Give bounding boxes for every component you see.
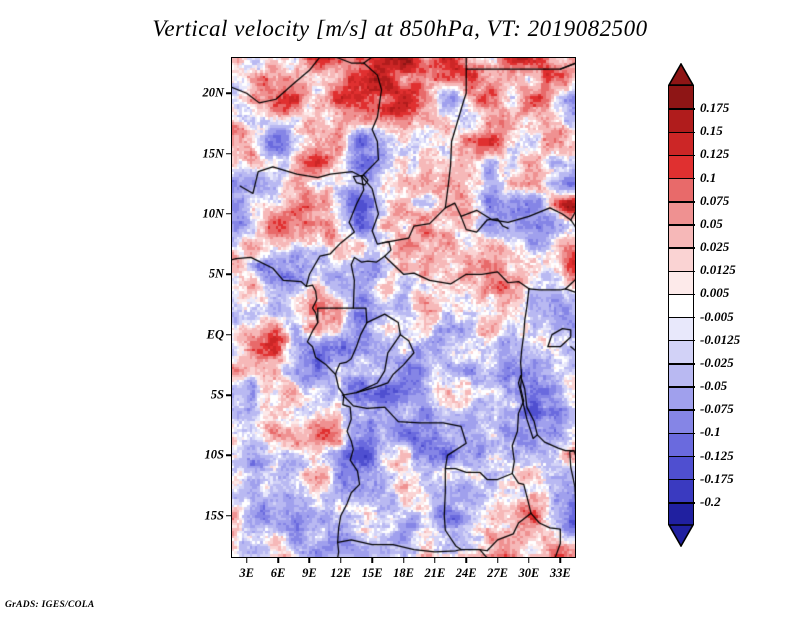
x-tick-mark [371, 558, 373, 563]
colorbar-segment [669, 179, 693, 202]
colorbar-segment [669, 109, 693, 132]
colorbar-label: -0.175 [700, 471, 734, 487]
colorbar-label: 0.175 [700, 100, 729, 116]
y-tick-label-20N: 20N [202, 86, 224, 101]
x-tick-mark [528, 558, 530, 563]
x-tick-label-15E: 15E [362, 566, 383, 581]
y-tick-label-15S: 15S [205, 508, 224, 523]
y-tick-mark [226, 153, 231, 155]
x-tick-mark [246, 558, 248, 563]
x-tick-mark [403, 558, 405, 563]
y-tick-mark [226, 213, 231, 215]
colorbar-segment [669, 318, 693, 341]
colorbar-segment [669, 387, 693, 410]
x-tick-mark [277, 558, 279, 563]
x-tick-label-24E: 24E [456, 566, 477, 581]
colorbar-label: -0.125 [700, 448, 734, 464]
colorbar-label: -0.075 [700, 401, 734, 417]
map-plot-area: 20N15N10N5NEQ5S10S15S 3E6E9E12E15E18E21E… [231, 57, 576, 558]
colorbar-label: 0.025 [700, 239, 729, 255]
colorbar-label: -0.005 [700, 309, 734, 325]
x-tick-mark [309, 558, 311, 563]
x-tick-mark [497, 558, 499, 563]
y-tick-label-15N: 15N [202, 146, 224, 161]
y-tick-label-10N: 10N [202, 206, 224, 221]
page-title: Vertical velocity [m/s] at 850hPa, VT: 2… [0, 16, 800, 42]
x-tick-label-30E: 30E [519, 566, 540, 581]
x-tick-label-12E: 12E [330, 566, 351, 581]
colorbar-top-arrow-icon [668, 63, 694, 86]
colorbar-bottom-arrow-icon [668, 524, 694, 547]
x-tick-label-21E: 21E [424, 566, 445, 581]
colorbar-segment [669, 433, 693, 456]
x-tick-label-3E: 3E [239, 566, 254, 581]
colorbar-segment [669, 225, 693, 248]
colorbar-label: 0.1 [700, 170, 716, 186]
x-tick-mark [560, 558, 562, 563]
y-tick-mark [226, 394, 231, 396]
colorbar-segment [669, 86, 693, 109]
colorbar-label: -0.025 [700, 355, 734, 371]
colorbar: 0.1750.150.1250.10.0750.050.0250.01250.0… [668, 63, 694, 547]
colorbar-label: 0.125 [700, 146, 729, 162]
grads-attribution: GrADS: IGES/COLA [5, 600, 95, 610]
y-tick-label-10S: 10S [205, 448, 224, 463]
colorbar-divider [669, 271, 695, 273]
colorbar-divider [669, 456, 695, 458]
colorbar-label: 0.15 [700, 123, 723, 139]
colorbar-segment [669, 364, 693, 387]
colorbar-divider [669, 386, 695, 388]
x-tick-mark [434, 558, 436, 563]
colorbar-segment [669, 294, 693, 317]
colorbar-label: 0.075 [700, 193, 729, 209]
colorbar-segment [669, 341, 693, 364]
colorbar-segment [669, 480, 693, 503]
x-tick-label-9E: 9E [302, 566, 317, 581]
colorbar-label: 0.05 [700, 216, 723, 232]
colorbar-segment [669, 271, 693, 294]
vertical-velocity-heatmap [231, 57, 576, 558]
y-tick-mark [226, 515, 231, 517]
y-tick-label-EQ: EQ [207, 327, 224, 342]
colorbar-divider [669, 155, 695, 157]
colorbar-label: 0.005 [700, 285, 729, 301]
colorbar-divider [669, 201, 695, 203]
colorbar-segment [669, 202, 693, 225]
colorbar-divider [669, 502, 695, 504]
x-tick-label-18E: 18E [393, 566, 414, 581]
colorbar-divider [669, 409, 695, 411]
colorbar-divider [669, 108, 695, 110]
y-tick-mark [226, 334, 231, 336]
colorbar-label: 0.0125 [700, 262, 736, 278]
x-tick-mark [465, 558, 467, 563]
colorbar-segment [669, 410, 693, 433]
x-tick-label-6E: 6E [271, 566, 286, 581]
colorbar-divider [669, 340, 695, 342]
colorbar-segment [669, 155, 693, 178]
colorbar-segment [669, 457, 693, 480]
colorbar-label: -0.0125 [700, 332, 740, 348]
colorbar-segment [669, 503, 693, 526]
colorbar-divider [669, 479, 695, 481]
colorbar-divider [669, 363, 695, 365]
colorbar-segment [669, 132, 693, 155]
colorbar-divider [669, 178, 695, 180]
x-tick-label-27E: 27E [487, 566, 508, 581]
colorbar-label: -0.05 [700, 378, 727, 394]
colorbar-divider [669, 294, 695, 296]
colorbar-segment [669, 248, 693, 271]
colorbar-body [668, 85, 694, 525]
x-tick-mark [340, 558, 342, 563]
y-tick-mark [226, 274, 231, 276]
y-tick-label-5S: 5S [211, 388, 224, 403]
colorbar-label: -0.2 [700, 494, 721, 510]
colorbar-divider [669, 224, 695, 226]
colorbar-divider [669, 132, 695, 134]
x-tick-label-33E: 33E [550, 566, 571, 581]
colorbar-divider [669, 317, 695, 319]
y-tick-mark [226, 455, 231, 457]
y-tick-label-5N: 5N [209, 267, 224, 282]
colorbar-divider [669, 433, 695, 435]
colorbar-divider [669, 247, 695, 249]
colorbar-label: -0.1 [700, 424, 721, 440]
y-tick-mark [226, 92, 231, 94]
